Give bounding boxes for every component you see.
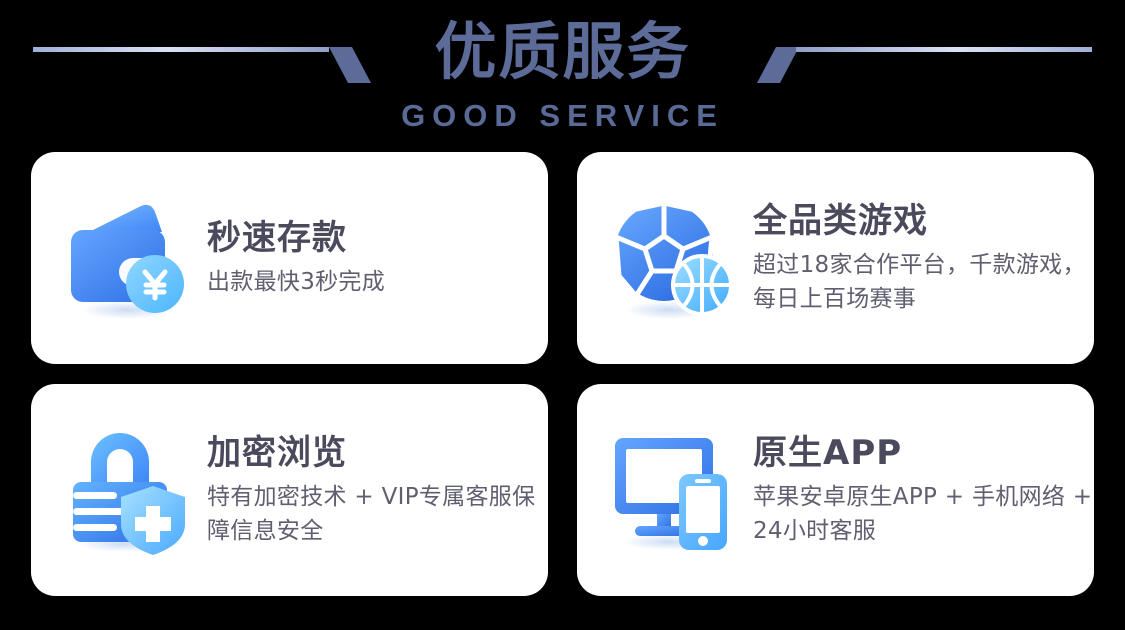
card-title: 原生APP [753, 432, 1093, 474]
card-title: 全品类游戏 [753, 200, 1093, 242]
card-description: 超过18家合作平台，千款游戏，每日上百场赛事 [753, 248, 1093, 316]
service-card-native-app[interactable]: 原生APP 苹果安卓原生APP + 手机网络 + 24小时客服 [577, 384, 1094, 596]
service-card-grid: 秒速存款 出款最快3秒完成 [31, 152, 1094, 596]
service-card-deposit[interactable]: 秒速存款 出款最快3秒完成 [31, 152, 548, 364]
card-text-block: 加密浏览 特有加密技术 + VIP专属客服保障信息安全 [207, 432, 537, 548]
card-text-block: 原生APP 苹果安卓原生APP + 手机网络 + 24小时客服 [753, 432, 1093, 548]
card-text-block: 全品类游戏 超过18家合作平台，千款游戏，每日上百场赛事 [753, 200, 1093, 316]
card-title: 秒速存款 [207, 217, 385, 259]
monitor-phone-icon [607, 424, 739, 556]
service-card-encryption[interactable]: 加密浏览 特有加密技术 + VIP专属客服保障信息安全 [31, 384, 548, 596]
wallet-yen-icon [61, 192, 193, 324]
page-subtitle: GOOD SERVICE [0, 98, 1125, 134]
card-description: 出款最快3秒完成 [207, 265, 385, 299]
page-title: 优质服务 [0, 14, 1125, 90]
soccer-basketball-icon [607, 192, 739, 324]
card-description: 苹果安卓原生APP + 手机网络 + 24小时客服 [753, 480, 1093, 548]
lock-shield-icon [61, 424, 193, 556]
service-card-games[interactable]: 全品类游戏 超过18家合作平台，千款游戏，每日上百场赛事 [577, 152, 1094, 364]
page-header: 优质服务 GOOD SERVICE [0, 0, 1125, 148]
card-text-block: 秒速存款 出款最快3秒完成 [207, 217, 385, 299]
card-title: 加密浏览 [207, 432, 537, 474]
card-description: 特有加密技术 + VIP专属客服保障信息安全 [207, 480, 537, 548]
